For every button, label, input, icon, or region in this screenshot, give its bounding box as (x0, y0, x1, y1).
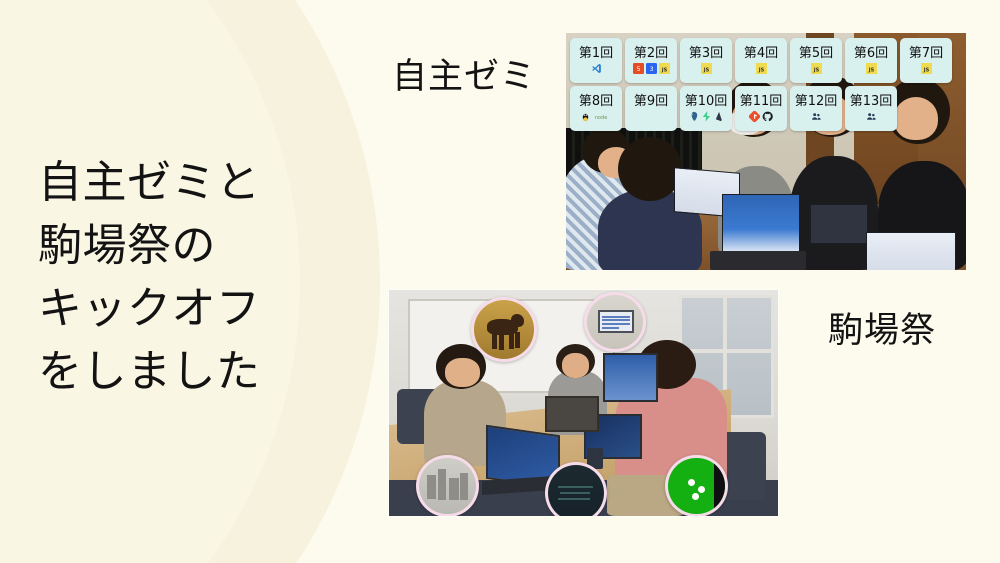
bubble-green-game-photo (665, 455, 727, 516)
page-title-line-2: 駒場祭の (38, 215, 338, 278)
photo-jishu-zemi: 第1回 第2回 5 3 JS (566, 33, 966, 270)
window-mullion-h (682, 349, 771, 353)
horse-head (511, 314, 524, 327)
session-card-5-title: 第5回 (799, 47, 833, 60)
bubble-horse-photo (471, 297, 537, 362)
session-card-5[interactable]: 第5回 JS (790, 38, 842, 83)
session-card-10[interactable]: 第10回 (680, 86, 732, 131)
git-icon (749, 111, 760, 122)
session-card-10-title: 第10回 (685, 95, 728, 108)
javascript-icon: JS (921, 63, 932, 74)
svg-text:JS: JS (922, 67, 929, 73)
session-card-4[interactable]: 第4回 JS (735, 38, 787, 83)
svg-text:JS: JS (757, 67, 764, 73)
texture-line (560, 492, 590, 494)
laptop-screen-right-dark (810, 204, 868, 244)
session-card-12-icons (811, 110, 822, 123)
city-block (438, 469, 446, 500)
page-title-line-3: キックオフ (38, 278, 338, 341)
horse-leg-2 (499, 332, 504, 350)
vscode-icon (591, 63, 602, 74)
session-card-3-title: 第3回 (689, 47, 723, 60)
session-card-8[interactable]: 第8回 node (570, 86, 622, 131)
laptop-screen-center (722, 194, 800, 253)
session-card-8-title: 第8回 (579, 95, 613, 108)
session-card-4-icons: JS (756, 62, 767, 75)
session-card-13[interactable]: 第13回 (845, 86, 897, 131)
session-card-7[interactable]: 第7回 JS (900, 38, 952, 83)
texture-line (558, 486, 593, 488)
javascript-icon: JS (866, 63, 877, 74)
nodejs-icon: node (593, 111, 613, 122)
html5-icon: 5 (633, 63, 644, 74)
session-card-13-icons (866, 110, 877, 123)
svg-text:JS: JS (867, 67, 874, 73)
laptop-base-center (710, 251, 806, 270)
section-label-jishu-zemi: 自主ゼミ (392, 48, 536, 99)
svg-text:JS: JS (660, 67, 667, 73)
section-label-komabasai: 駒場祭 (828, 302, 936, 353)
texture-line (558, 498, 591, 500)
session-card-9[interactable]: 第9回 (625, 86, 677, 131)
session-card-8-icons: node (580, 110, 613, 123)
session-card-10-icons (688, 110, 725, 123)
laptop-screen-grey-mid (545, 396, 600, 432)
city-block (427, 475, 436, 499)
screen-line (602, 319, 629, 321)
session-card-12-title: 第12回 (795, 95, 838, 108)
photo-komabasai-content (389, 290, 778, 516)
horse-leg-4 (515, 332, 520, 348)
student-navy-front-head (618, 137, 682, 201)
session-card-3-icons: JS (701, 62, 712, 75)
session-card-2-title: 第2回 (634, 47, 668, 60)
bubble-city-model-photo (416, 455, 478, 516)
slide-canvas: 自主ゼミと 駒場祭の キックオフ をしました 自主ゼミ 駒場祭 (0, 0, 1000, 563)
city-block (449, 478, 459, 499)
person-grey-center-face (562, 353, 589, 378)
css3-icon: 3 (646, 63, 657, 74)
session-card-5-icons: JS (811, 62, 822, 75)
screen-line (602, 316, 629, 318)
game-piece (692, 493, 699, 500)
game-piece (698, 486, 705, 493)
session-card-9-title: 第9回 (634, 95, 668, 108)
page-title-line-1: 自主ゼミと (38, 152, 338, 215)
github-icon (762, 111, 773, 122)
session-card-3[interactable]: 第3回 JS (680, 38, 732, 83)
bubble-laptop-screen (598, 310, 635, 332)
bubble-dark-texture-photo (545, 462, 607, 516)
city-block (460, 473, 468, 500)
photo-komabasai (389, 290, 778, 516)
session-card-4-title: 第4回 (744, 47, 778, 60)
users-icon (866, 111, 877, 122)
bubble-laptop-photo (584, 292, 646, 352)
svg-text:5: 5 (636, 64, 640, 72)
svg-text:JS: JS (812, 67, 819, 73)
session-card-2-icons: 5 3 JS (633, 62, 670, 75)
horse-leg-1 (492, 332, 497, 348)
laptop-screen-far-right (866, 232, 956, 270)
page-title-line-4: をしました (38, 341, 338, 404)
monitor-wall (603, 353, 658, 402)
session-card-7-icons: JS (921, 62, 932, 75)
session-card-11-icons (749, 110, 773, 123)
session-card-6-title: 第6回 (854, 47, 888, 60)
svg-text:JS: JS (702, 67, 709, 73)
session-card-grid: 第1回 第2回 5 3 JS (570, 38, 962, 131)
users-icon (811, 111, 822, 122)
session-card-2[interactable]: 第2回 5 3 JS (625, 38, 677, 83)
page-title: 自主ゼミと 駒場祭の キックオフ をしました (38, 152, 338, 404)
session-card-6-icons: JS (866, 62, 877, 75)
javascript-icon: JS (811, 63, 822, 74)
session-card-6[interactable]: 第6回 JS (845, 38, 897, 83)
person-beige-left-face (445, 358, 480, 387)
session-card-1-title: 第1回 (579, 47, 613, 60)
session-card-12[interactable]: 第12回 (790, 86, 842, 131)
game-sidebar (714, 458, 724, 515)
session-card-13-title: 第13回 (850, 95, 893, 108)
horse-leg-3 (509, 332, 514, 349)
svg-text:node: node (594, 114, 607, 120)
screen-line (602, 327, 618, 329)
linux-icon (580, 111, 591, 122)
session-card-7-title: 第7回 (909, 47, 943, 60)
javascript-icon: JS (701, 63, 712, 74)
prisma-icon (714, 111, 725, 122)
postgresql-icon (688, 111, 699, 122)
session-card-1-icons (591, 62, 602, 75)
svg-text:3: 3 (649, 64, 653, 72)
supabase-icon (701, 111, 712, 122)
screen-line (602, 323, 629, 325)
session-card-1[interactable]: 第1回 (570, 38, 622, 83)
javascript-icon: JS (659, 63, 670, 74)
session-card-11-title: 第11回 (740, 95, 783, 108)
session-card-11[interactable]: 第11回 (735, 86, 787, 131)
game-piece (688, 479, 695, 486)
javascript-icon: JS (756, 63, 767, 74)
